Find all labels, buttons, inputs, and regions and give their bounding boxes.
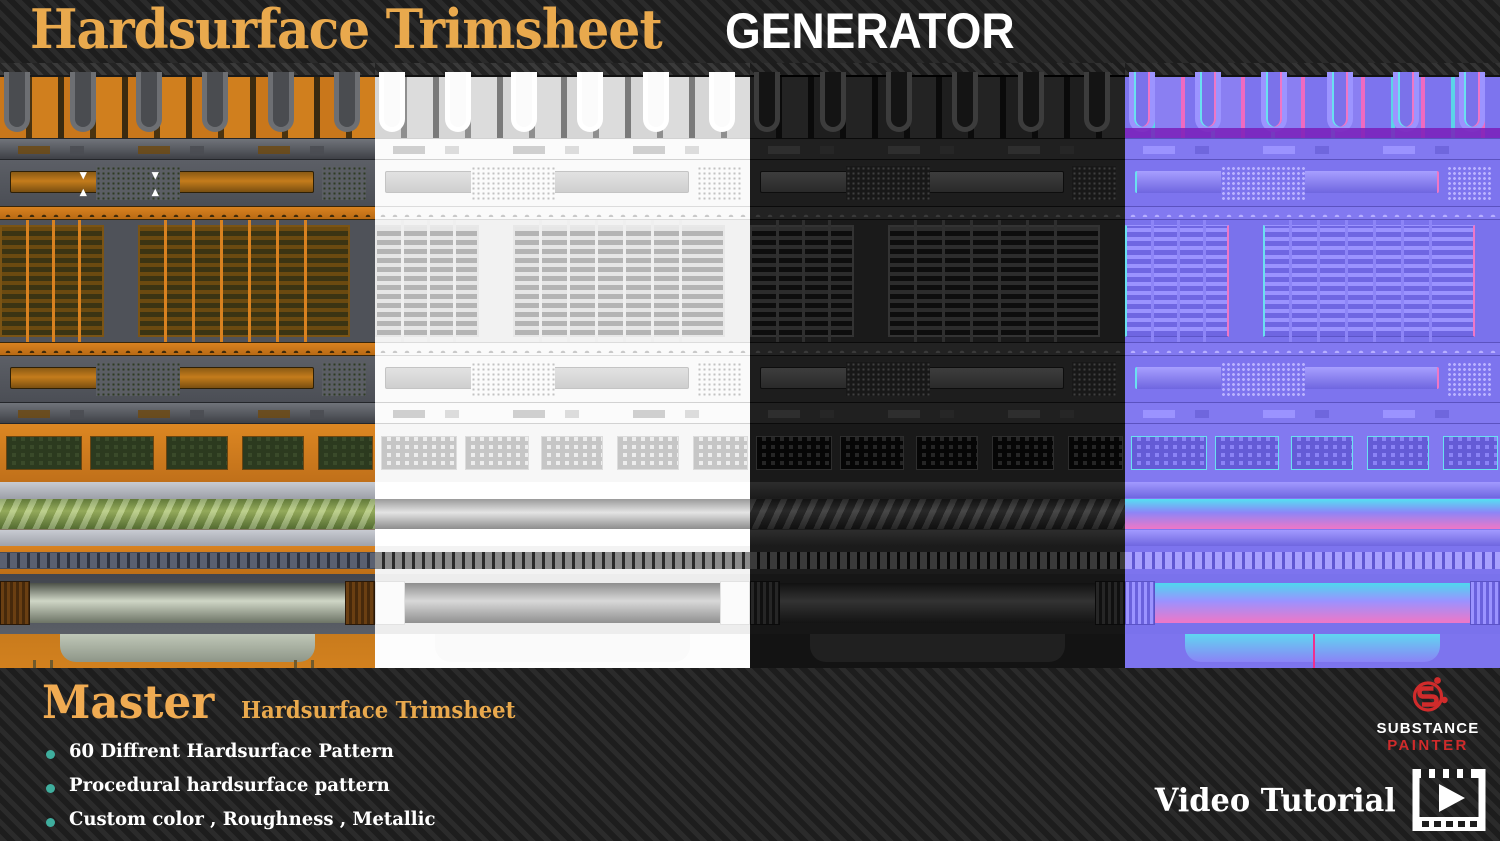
bullet-dot-icon — [46, 818, 55, 827]
roughness-pipe-band — [375, 482, 750, 546]
feature-list: 60 Diffrent Hardsurface Pattern Procedur… — [46, 740, 455, 830]
list-item: Custom color , Roughness , Metallic — [46, 808, 455, 830]
albedo-top-claw-band — [0, 63, 375, 138]
feature-label: 60 Diffrent Hardsurface Pattern — [69, 740, 394, 762]
albedo-thin-bar-2 — [0, 402, 375, 424]
metallic-rivet-strip-1 — [750, 206, 1125, 220]
albedo-hatch-panel — [0, 634, 375, 668]
albedo-rivet-strip-2 — [0, 342, 375, 356]
metallic-slot-band-1 — [750, 160, 1125, 206]
bullet-dot-icon — [46, 750, 55, 759]
roughness-thin-bar-2 — [375, 402, 750, 424]
albedo-vent-band — [0, 424, 375, 482]
roughness-slot-band-1 — [375, 160, 750, 206]
page-title-accent: GENERATOR — [725, 0, 1015, 62]
metallic-pipe-band — [750, 482, 1125, 546]
footer-info-bar: Master Hardsurface Trimsheet 60 Diffrent… — [0, 668, 1500, 841]
metallic-rivet-strip-2 — [750, 342, 1125, 356]
metallic-vent-band — [750, 424, 1125, 482]
albedo-green-pipe-band — [0, 482, 375, 546]
roughness-rivet-strip-1 — [375, 206, 750, 220]
albedo-grille-band — [0, 220, 375, 342]
list-item: 60 Diffrent Hardsurface Pattern — [46, 740, 455, 762]
metallic-slot-band-2 — [750, 356, 1125, 402]
list-item: Procedural hardsurface pattern — [46, 774, 455, 796]
normal-grille-band — [1125, 220, 1500, 342]
normal-large-pipe-band — [1125, 574, 1500, 634]
albedo-slot-band-2 — [0, 356, 375, 402]
panel-roughness-map — [375, 63, 750, 668]
roughness-rivet-strip-2 — [375, 342, 750, 356]
texture-map-strip: ▾ ▴ ▾ ▴ — [0, 63, 1500, 668]
header-title-group: Hardsurface Trimsheet GENERATOR — [30, 0, 1040, 62]
normal-rivet-strip-2 — [1125, 342, 1500, 356]
page-title: Hardsurface Trimsheet — [30, 0, 662, 60]
promo-banner: Hardsurface Trimsheet GENERATOR — [0, 0, 1500, 841]
bullet-dot-icon — [46, 784, 55, 793]
roughness-hatch-panel — [375, 634, 750, 668]
albedo-thin-bar-1 — [0, 138, 375, 160]
normal-rivet-strip-1 — [1125, 206, 1500, 220]
roughness-slot-band-2 — [375, 356, 750, 402]
master-heading-group: Master Hardsurface Trimsheet — [42, 676, 540, 737]
metallic-large-pipe-band — [750, 574, 1125, 634]
metallic-grille-band — [750, 220, 1125, 342]
panel-metallic-ao-map — [750, 63, 1125, 668]
metallic-thin-bar-1 — [750, 138, 1125, 160]
roughness-grille-band — [375, 220, 750, 342]
video-tutorial-callout[interactable]: Video Tutorial — [1142, 769, 1486, 831]
substance-painter-logo: SUBSTANCE PAINTER — [1374, 672, 1482, 754]
metallic-micro-grid-band — [750, 546, 1125, 574]
normal-thin-bar-2 — [1125, 402, 1500, 424]
roughness-large-pipe-band — [375, 574, 750, 634]
normal-hatch-panel — [1125, 634, 1500, 668]
feature-label: Procedural hardsurface pattern — [69, 774, 390, 796]
metallic-thin-bar-2 — [750, 402, 1125, 424]
normal-vent-band — [1125, 424, 1500, 482]
painter-wordmark: PAINTER — [1374, 737, 1482, 754]
roughness-micro-grid-band — [375, 546, 750, 574]
substance-s-icon — [1405, 672, 1451, 718]
normal-slot-band-1 — [1125, 160, 1500, 206]
header-bar: Hardsurface Trimsheet GENERATOR — [0, 0, 1500, 63]
panel-albedo-basecolor: ▾ ▴ ▾ ▴ — [0, 63, 375, 668]
substance-wordmark: SUBSTANCE — [1374, 721, 1482, 737]
video-tutorial-label: Video Tutorial — [1155, 781, 1396, 819]
roughness-vent-band — [375, 424, 750, 482]
roughness-thin-bar-1 — [375, 138, 750, 160]
albedo-rivet-strip-1 — [0, 206, 375, 220]
master-heading: Master — [42, 676, 214, 728]
panel-normal-map — [1125, 63, 1500, 668]
albedo-large-pipe-band — [0, 574, 375, 634]
normal-thin-bar-1 — [1125, 138, 1500, 160]
roughness-top-claw-band — [375, 63, 750, 138]
normal-micro-grid-band — [1125, 546, 1500, 574]
master-subheading: Hardsurface Trimsheet — [241, 685, 515, 737]
metallic-hatch-panel — [750, 634, 1125, 668]
film-play-icon[interactable] — [1412, 769, 1486, 831]
feature-label: Custom color , Roughness , Metallic — [69, 808, 435, 830]
albedo-micro-grid-band — [0, 546, 375, 574]
normal-pipe-band — [1125, 482, 1500, 546]
albedo-slot-band-1: ▾ ▴ ▾ ▴ — [0, 160, 375, 206]
normal-slot-band-2 — [1125, 356, 1500, 402]
metallic-top-claw-band — [750, 63, 1125, 138]
normal-top-claw-band — [1125, 63, 1500, 138]
